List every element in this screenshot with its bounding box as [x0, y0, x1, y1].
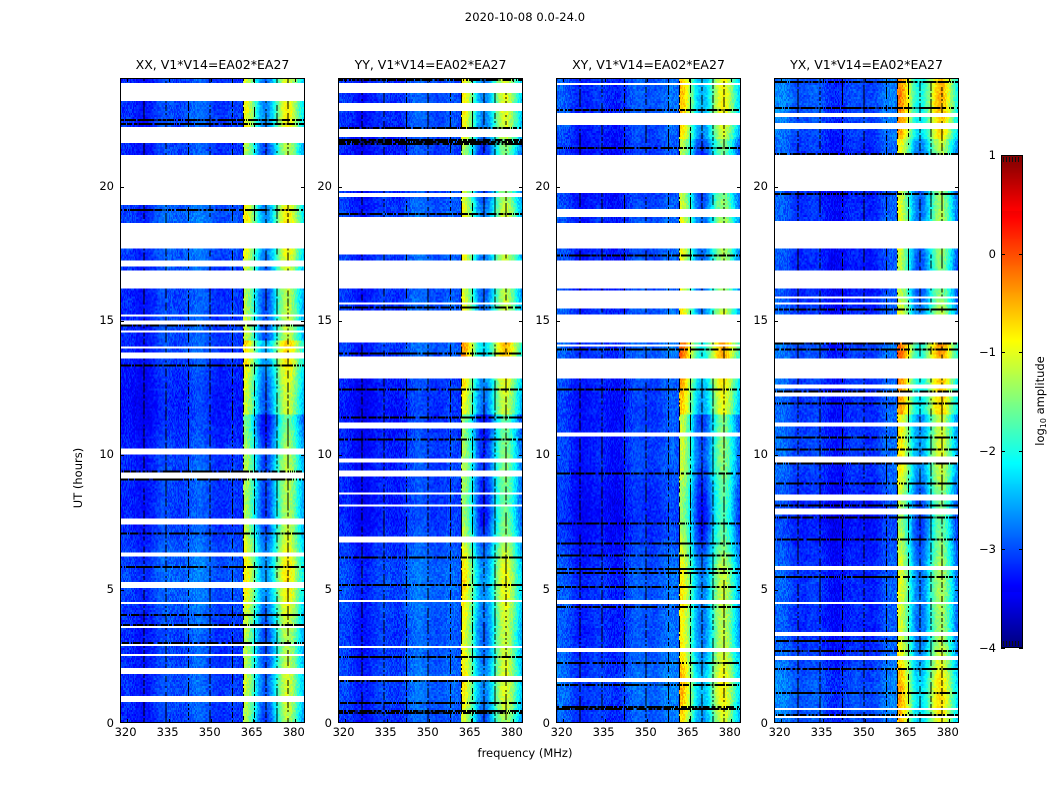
x-tick-mark [253, 719, 254, 723]
x-tick-mark-top [647, 78, 648, 82]
y-tick-mark-right [519, 321, 523, 322]
x-tick-mark-top [211, 78, 212, 82]
y-tick-mark-right [955, 590, 959, 591]
y-axis-title: UT (hours) [71, 448, 85, 508]
colorbar-under-marker [1003, 641, 1021, 646]
x-axis-title: frequency (MHz) [0, 746, 1050, 760]
x-tick-mark-top [471, 78, 472, 82]
colorbar-tick-mark [1001, 352, 1005, 353]
colorbar-tick-mark-right [1019, 549, 1023, 550]
y-tick-mark [774, 321, 778, 322]
x-tick-mark [345, 719, 346, 723]
y-tick-mark [774, 187, 778, 188]
colorbar-tick-mark [1001, 648, 1005, 649]
y-tick-mark-right [955, 187, 959, 188]
y-tick-mark-right [519, 187, 523, 188]
x-tick-mark [731, 719, 732, 723]
y-tick-label: 5 [761, 582, 768, 596]
waterfall-image-xx [121, 79, 304, 722]
x-tick-mark [605, 719, 606, 723]
y-tick-mark [120, 187, 124, 188]
x-tick-mark-top [605, 78, 606, 82]
y-tick-mark-right [519, 590, 523, 591]
x-tick-mark [563, 719, 564, 723]
x-tick-label: 380 [501, 725, 523, 739]
y-tick-label: 0 [543, 716, 550, 730]
plot-area-yy[interactable] [338, 78, 523, 723]
x-tick-mark-top [949, 78, 950, 82]
colorbar-tick-mark [1001, 254, 1005, 255]
colorbar-tick-mark-right [1019, 648, 1023, 649]
panel-title-yx: YX, V1*V14=EA02*EA27 [790, 57, 943, 72]
x-tick-mark-top [513, 78, 514, 82]
y-tick-mark [774, 455, 778, 456]
waterfall-image-yy [339, 79, 522, 722]
panel-yy: YY, V1*V14=EA02*EA2732033535036538005101… [338, 78, 523, 723]
y-tick-mark [338, 187, 342, 188]
x-tick-mark-top [865, 78, 866, 82]
y-tick-label: 20 [317, 179, 332, 193]
x-tick-mark-top [345, 78, 346, 82]
y-tick-mark-right [737, 187, 741, 188]
x-tick-mark [865, 719, 866, 723]
x-tick-label: 320 [333, 725, 355, 739]
y-tick-mark-right [737, 455, 741, 456]
y-tick-mark [338, 321, 342, 322]
x-tick-mark-top [387, 78, 388, 82]
y-tick-label: 10 [99, 447, 114, 461]
colorbar-tick-mark-right [1019, 352, 1023, 353]
y-tick-label: 20 [99, 179, 114, 193]
panel-xy: XY, V1*V14=EA02*EA2732033535036538005101… [556, 78, 741, 723]
y-tick-mark [120, 590, 124, 591]
colorbar: −4−3−2−101 [1001, 155, 1023, 648]
y-tick-mark [556, 187, 560, 188]
y-tick-mark [556, 321, 560, 322]
y-tick-mark [338, 590, 342, 591]
x-tick-mark [907, 719, 908, 723]
x-tick-mark [429, 719, 430, 723]
y-tick-label: 15 [99, 313, 114, 327]
colorbar-tick-mark [1001, 549, 1005, 550]
x-tick-mark-top [731, 78, 732, 82]
panel-title-xy: XY, V1*V14=EA02*EA27 [572, 57, 725, 72]
y-tick-label: 15 [535, 313, 550, 327]
y-tick-label: 5 [543, 582, 550, 596]
x-tick-mark-top [429, 78, 430, 82]
figure-canvas: 2020-10-08 0.0-24.0 XX, V1*V14=EA02*EA27… [0, 0, 1050, 800]
x-tick-label: 350 [199, 725, 221, 739]
x-tick-mark-top [295, 78, 296, 82]
x-tick-label: 335 [593, 725, 615, 739]
waterfall-image-xy [557, 79, 740, 722]
colorbar-tick-label: 0 [989, 247, 996, 261]
y-tick-mark-right [301, 321, 305, 322]
y-tick-mark [774, 590, 778, 591]
x-tick-label: 320 [115, 725, 137, 739]
colorbar-over-marker [1003, 157, 1021, 162]
x-tick-mark [647, 719, 648, 723]
y-tick-label: 10 [535, 447, 550, 461]
y-tick-label: 20 [535, 179, 550, 193]
colorbar-tick-label: −3 [979, 542, 996, 556]
x-tick-label: 335 [811, 725, 833, 739]
panel-title-xx: XX, V1*V14=EA02*EA27 [136, 57, 290, 72]
colorbar-tick-mark [1001, 155, 1005, 156]
panel-xx: XX, V1*V14=EA02*EA2732033535036538005101… [120, 78, 305, 723]
colorbar-tick-label: −2 [979, 444, 996, 458]
colorbar-gradient [1001, 155, 1023, 648]
y-tick-label: 15 [317, 313, 332, 327]
x-tick-label: 350 [635, 725, 657, 739]
colorbar-tick-mark-right [1019, 254, 1023, 255]
x-tick-label: 365 [459, 725, 481, 739]
x-tick-mark [127, 719, 128, 723]
x-tick-mark-top [169, 78, 170, 82]
x-tick-mark [689, 719, 690, 723]
colorbar-tick-mark [1001, 451, 1005, 452]
x-tick-label: 350 [417, 725, 439, 739]
x-tick-mark-top [823, 78, 824, 82]
x-tick-mark [949, 719, 950, 723]
x-tick-mark [823, 719, 824, 723]
x-tick-label: 365 [241, 725, 263, 739]
panel-yx: YX, V1*V14=EA02*EA2732033535036538005101… [774, 78, 959, 723]
x-tick-mark-top [689, 78, 690, 82]
x-tick-label: 365 [677, 725, 699, 739]
colorbar-tick-label: −1 [979, 345, 996, 359]
y-tick-mark-right [737, 590, 741, 591]
x-tick-mark [169, 719, 170, 723]
plot-area-xy[interactable] [556, 78, 741, 723]
colorbar-tick-mark-right [1019, 451, 1023, 452]
x-tick-label: 380 [283, 725, 305, 739]
x-tick-label: 380 [937, 725, 959, 739]
x-tick-mark [781, 719, 782, 723]
x-tick-mark-top [781, 78, 782, 82]
y-tick-label: 5 [107, 582, 114, 596]
colorbar-tick-mark-right [1019, 155, 1023, 156]
y-tick-mark [338, 455, 342, 456]
y-tick-mark [556, 590, 560, 591]
y-tick-label: 15 [753, 313, 768, 327]
x-tick-mark [513, 719, 514, 723]
colorbar-tick-label: 1 [989, 148, 996, 162]
y-tick-label: 10 [753, 447, 768, 461]
y-tick-mark-right [737, 321, 741, 322]
y-tick-label: 0 [761, 716, 768, 730]
y-tick-mark-right [955, 455, 959, 456]
y-tick-mark-right [301, 590, 305, 591]
y-tick-label: 10 [317, 447, 332, 461]
y-tick-label: 0 [107, 716, 114, 730]
plot-area-xx[interactable] [120, 78, 305, 723]
x-tick-mark-top [127, 78, 128, 82]
x-tick-mark [471, 719, 472, 723]
y-tick-mark-right [301, 455, 305, 456]
x-tick-mark [295, 719, 296, 723]
colorbar-title: log10 amplitude [1033, 356, 1047, 446]
x-tick-label: 350 [853, 725, 875, 739]
x-tick-label: 335 [157, 725, 179, 739]
x-tick-mark [387, 719, 388, 723]
panel-title-yy: YY, V1*V14=EA02*EA27 [355, 57, 507, 72]
x-tick-mark [211, 719, 212, 723]
figure-suptitle: 2020-10-08 0.0-24.0 [0, 10, 1050, 24]
colorbar-tick-label: −4 [979, 641, 996, 655]
y-tick-mark-right [955, 321, 959, 322]
x-tick-label: 335 [375, 725, 397, 739]
y-tick-label: 0 [325, 716, 332, 730]
x-tick-mark-top [253, 78, 254, 82]
y-tick-mark-right [301, 187, 305, 188]
y-tick-label: 20 [753, 179, 768, 193]
x-tick-label: 320 [769, 725, 791, 739]
plot-area-yx[interactable] [774, 78, 959, 723]
y-tick-mark-right [519, 455, 523, 456]
x-tick-label: 365 [895, 725, 917, 739]
y-tick-mark [120, 321, 124, 322]
y-tick-label: 5 [325, 582, 332, 596]
waterfall-image-yx [775, 79, 958, 722]
y-tick-mark [120, 455, 124, 456]
x-tick-mark-top [907, 78, 908, 82]
y-tick-mark [556, 455, 560, 456]
x-tick-mark-top [563, 78, 564, 82]
x-tick-label: 380 [719, 725, 741, 739]
x-tick-label: 320 [551, 725, 573, 739]
